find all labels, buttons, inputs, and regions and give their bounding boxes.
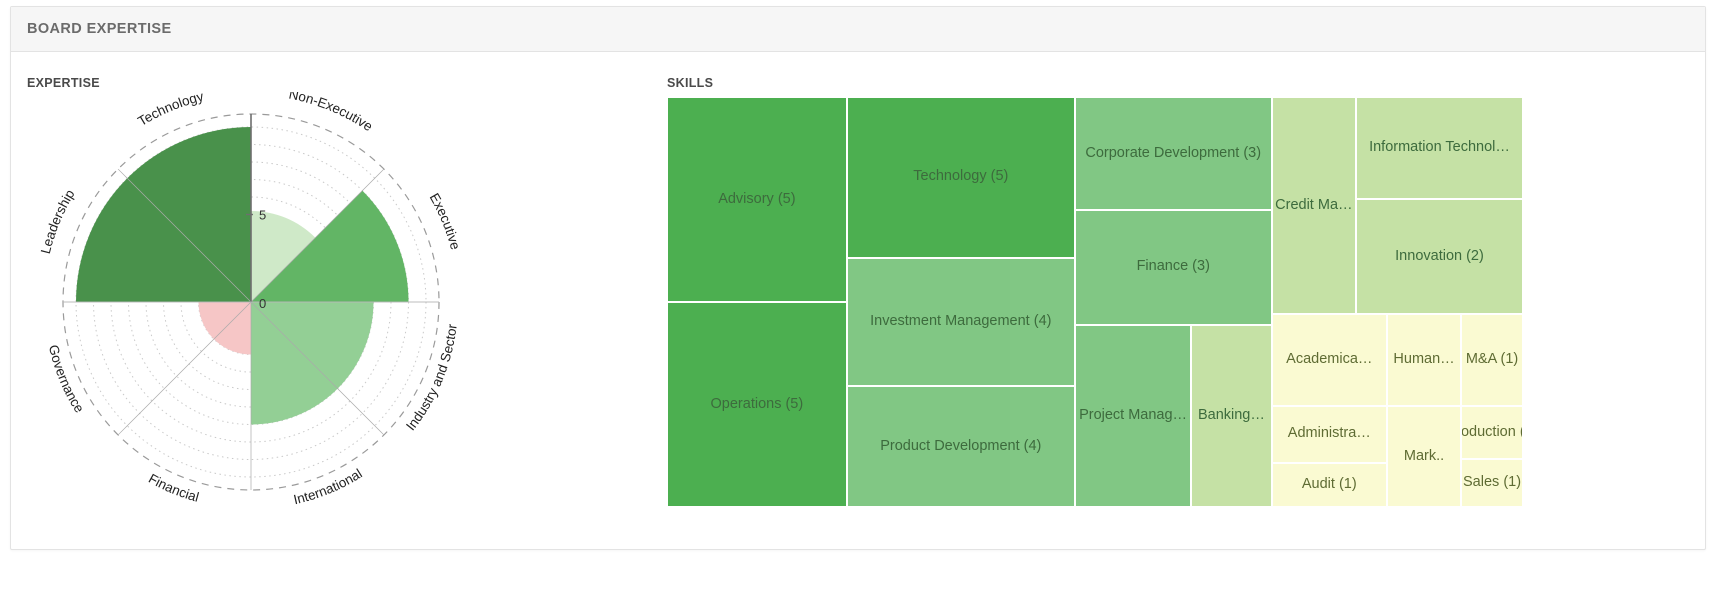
treemap-tile[interactable]: Administra… <box>1272 406 1387 463</box>
treemap-tile-label: Innovation (2) <box>1391 249 1488 265</box>
polar-category-label: Executive <box>427 191 464 252</box>
treemap-tile-label: Mark.. <box>1400 449 1448 465</box>
treemap-tile-label: Operations (5) <box>707 397 808 413</box>
skills-treemap[interactable]: Advisory (5)Operations (5)Technology (5)… <box>667 97 1697 517</box>
treemap-tile[interactable]: Credit Ma… <box>1272 97 1356 314</box>
treemap-tile-label: Corporate Development (3) <box>1081 146 1265 162</box>
treemap-tile[interactable]: Banking… <box>1191 325 1271 507</box>
polar-category-label: Non-Executive <box>288 92 376 134</box>
polar-category-label: Governance <box>46 343 87 415</box>
polar-category-label: Financial <box>146 471 200 505</box>
polar-category-label: International <box>292 466 365 507</box>
board-expertise-panel: BOARD EXPERTISE EXPERTISE SKILLS 05Non-E… <box>10 6 1706 550</box>
treemap-tiles-container: Advisory (5)Operations (5)Technology (5)… <box>667 97 1697 507</box>
treemap-tile[interactable]: Corporate Development (3) <box>1075 97 1272 210</box>
treemap-tile-label: Academica… <box>1282 352 1376 368</box>
treemap-tile[interactable]: Audit (1) <box>1272 463 1387 507</box>
treemap-tile-label: Administra… <box>1284 426 1375 442</box>
treemap-tile-label: Technology (5) <box>909 169 1012 185</box>
expertise-polar-chart[interactable]: 05Non-ExecutiveExecutiveIndustry and Sec… <box>11 92 651 542</box>
polar-tick-label: 0 <box>259 296 266 311</box>
treemap-tile-label: Advisory (5) <box>714 192 799 208</box>
polar-category-label: Technology <box>135 92 205 129</box>
treemap-tile-label: Product Development (4) <box>876 439 1045 455</box>
treemap-tile[interactable]: Human… <box>1387 314 1461 406</box>
treemap-tile-label: Banking… <box>1194 408 1269 424</box>
treemap-tile[interactable]: Mark.. <box>1387 406 1461 507</box>
treemap-tile[interactable]: Academica… <box>1272 314 1387 406</box>
panel-body: EXPERTISE SKILLS 05Non-ExecutiveExecutiv… <box>11 52 1705 547</box>
polar-category-label: Leadership <box>38 187 78 255</box>
treemap-tile[interactable]: Innovation (2) <box>1356 199 1523 314</box>
treemap-tile-label: M&A (1) <box>1462 352 1522 368</box>
treemap-tile-label: Human… <box>1389 352 1458 368</box>
treemap-tile-label: Information Technol… <box>1365 140 1514 156</box>
treemap-tile[interactable]: Project Manag… <box>1075 325 1191 507</box>
panel-header: BOARD EXPERTISE <box>11 7 1705 52</box>
treemap-tile[interactable]: Investment Management (4) <box>847 258 1075 387</box>
treemap-tile[interactable]: Product Development (4) <box>847 386 1075 507</box>
polar-chart-svg: 05Non-ExecutiveExecutiveIndustry and Sec… <box>11 92 651 542</box>
treemap-tile[interactable]: Advisory (5) <box>667 97 847 302</box>
treemap-tile-label: Production (1) <box>1461 425 1523 441</box>
treemap-tile[interactable]: Operations (5) <box>667 302 847 507</box>
treemap-tile-label: Finance (3) <box>1133 259 1214 275</box>
treemap-tile[interactable]: Sales (1) <box>1461 459 1523 507</box>
treemap-tile-label: Credit Ma… <box>1272 198 1356 214</box>
treemap-tile[interactable]: Production (1) <box>1461 406 1523 459</box>
treemap-tile[interactable]: Finance (3) <box>1075 210 1272 324</box>
expertise-section-label: EXPERTISE <box>27 76 100 90</box>
treemap-tile[interactable]: Information Technol… <box>1356 97 1523 199</box>
treemap-tile[interactable]: M&A (1) <box>1461 314 1523 406</box>
treemap-tile-label: Sales (1) <box>1461 475 1523 491</box>
skills-section-label: SKILLS <box>667 76 713 90</box>
polar-tick-label: 5 <box>259 208 266 223</box>
polar-spoke <box>118 302 251 435</box>
polar-category-label: Industry and Sector <box>403 323 460 434</box>
treemap-tile-label: Audit (1) <box>1298 477 1361 493</box>
treemap-tile[interactable]: Technology (5) <box>847 97 1075 258</box>
treemap-tile-label: Project Manag… <box>1075 408 1191 424</box>
treemap-tile-label: Investment Management (4) <box>866 314 1055 330</box>
page-title: BOARD EXPERTISE <box>27 21 172 37</box>
